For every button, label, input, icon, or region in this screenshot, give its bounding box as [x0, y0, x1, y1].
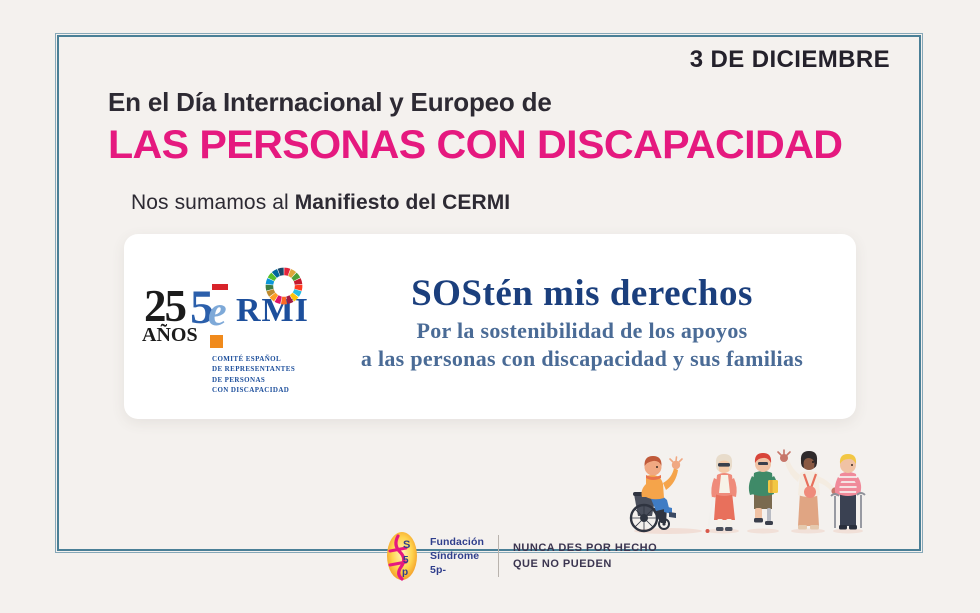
slogan-subline-1: Por la sostenibilidad de los apoyos — [326, 317, 838, 346]
svg-text:p: p — [402, 567, 408, 578]
fundacion-sindrome-5p-logo-icon: S 5 p — [380, 530, 424, 582]
foundation-name-line: Fundación — [430, 535, 484, 549]
date-label: 3 DE DICIEMBRE — [690, 46, 890, 74]
subline: Nos sumamos al Manifiesto del CERMI — [131, 191, 510, 215]
cermi-tagline-line: DE PERSONAS — [212, 375, 295, 386]
footer-claim-line-2: QUE NO PUEDEN — [513, 556, 657, 573]
slogan-block: SOStén mis derechos Por la sostenibilida… — [326, 273, 856, 380]
headline-line-1: En el Día Internacional y Europeo de — [108, 88, 908, 118]
people-illustration — [620, 442, 875, 534]
cermi-tagline-line: COMITÉ ESPAÑOL — [212, 354, 295, 365]
cermi-tagline: COMITÉ ESPAÑOL DE REPRESENTANTES DE PERS… — [212, 354, 295, 396]
cermi-tagline-line: CON DISCAPACIDAD — [212, 385, 295, 396]
subline-bold: Manifiesto del CERMI — [295, 191, 511, 214]
ground-shadow — [791, 529, 825, 534]
svg-text:5: 5 — [403, 555, 409, 566]
ground-shadow — [833, 529, 863, 534]
figure-person-waving — [778, 450, 839, 530]
cermi-logo: 25 5 e RMI AÑOS COMITÉ ESPAÑOL DE REPRES… — [136, 262, 326, 392]
cermi-anniversary-number: 25 — [144, 284, 185, 329]
figure-person-crutches — [831, 454, 865, 530]
cermi-letter-e: e — [208, 291, 227, 333]
cermi-tagline-line: DE REPRESENTANTES — [212, 364, 295, 375]
figure-person-prosthetic-leg — [749, 453, 778, 525]
figure-person-white-cane — [706, 454, 737, 533]
sdg-wheel-icon — [264, 266, 304, 306]
headline-line-2: LAS PERSONAS CON DISCAPACIDAD — [108, 122, 932, 169]
footer: S 5 p Fundación Síndrome 5p- NUNCA DES P… — [380, 528, 657, 584]
foundation-name: Fundación Síndrome 5p- — [430, 535, 484, 578]
footer-claim: NUNCA DES POR HECHO QUE NO PUEDEN — [513, 540, 657, 573]
slogan-headline: SOStén mis derechos — [326, 273, 838, 314]
figure-person-wheelchair — [631, 456, 682, 531]
foundation-name-line: 5p- — [430, 563, 484, 577]
foundation-name-line: Síndrome — [430, 549, 484, 563]
manifesto-card: 25 5 e RMI AÑOS COMITÉ ESPAÑOL DE REPRES… — [124, 234, 856, 419]
ground-shadow — [747, 529, 779, 534]
footer-claim-line-1: NUNCA DES POR HECHO — [513, 540, 657, 557]
cermi-orange-square-icon — [210, 335, 223, 348]
sdg-wheel-segment — [281, 296, 287, 304]
cermi-anniversary-word: AÑOS — [142, 324, 198, 347]
svg-text:S: S — [403, 539, 410, 551]
headline-block: En el Día Internacional y Europeo de LAS… — [108, 88, 908, 169]
subline-prefix: Nos sumamos al — [131, 191, 295, 214]
footer-divider — [498, 535, 499, 577]
slogan-subline-2: a las personas con discapacidad y sus fa… — [326, 345, 838, 374]
